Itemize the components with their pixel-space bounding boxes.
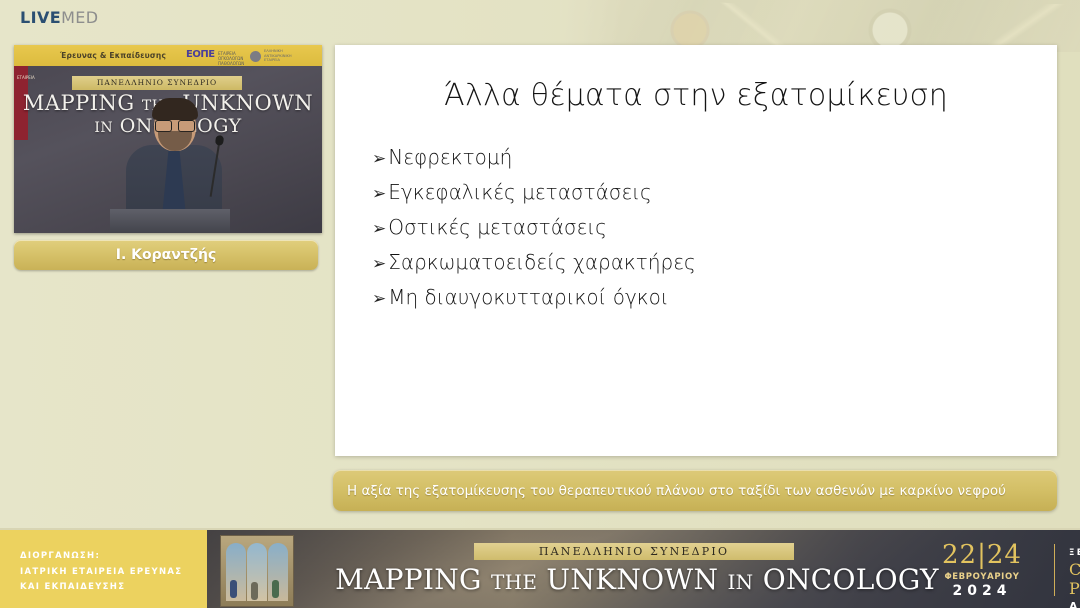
conference-footer: ΔΙΟΡΓΑΝΩΣΗ: ΙΑΤΡΙΚΗ ΕΤΑΙΡΕΙΑ ΕΡΕΥΝΑΣ ΚΑΙ…	[0, 528, 1080, 608]
organizer-line-2: ΚΑΙ ΕΚΠΑΙΔΕΥΣΗΣ	[20, 580, 182, 596]
bullet-text: Εγκεφαλικές μεταστάσεις	[388, 180, 652, 204]
title-in: IN	[727, 570, 753, 594]
bullet-arrow-icon: ➢	[372, 291, 386, 308]
date-end: 24	[987, 540, 1022, 570]
title-the: THE	[491, 570, 537, 594]
session-title-text: Η αξία της εξατομίκευσης του θεραπευτικο…	[347, 483, 1006, 499]
livemed-logo[interactable]: LIVEMED	[20, 8, 99, 27]
footer-triptych-artwork	[220, 535, 294, 607]
speaker-name-text: Ι. Κοραντζής	[116, 247, 217, 263]
session-title-bar: Η αξία της εξατομίκευσης του θεραπευτικο…	[333, 470, 1057, 511]
title-oncology: ONCOLOGY	[763, 563, 939, 596]
organizer-label: ΔΙΟΡΓΑΝΩΣΗ:	[20, 549, 182, 565]
backdrop-subtitle-text: ΠΑΝΕΛΛΗΝΙΟ ΣΥΝΕΔΡΙΟ	[72, 76, 242, 90]
footer-organizer-panel: ΔΙΟΡΓΑΝΩΣΗ: ΙΑΤΡΙΚΗ ΕΤΑΙΡΕΙΑ ΕΡΕΥΝΑΣ ΚΑΙ…	[0, 530, 207, 608]
list-item: ➢ Μη διαυγοκυτταρικοί όγκοι	[372, 285, 1012, 309]
bullet-text: Οστικές μεταστάσεις	[388, 215, 607, 239]
footer-venue-block: ΞΕΝΟΔΟΧΕΙΟ Crowne Plaza ΑΘΗΝΑ	[1069, 548, 1080, 608]
list-item: ➢ Εγκεφαλικές μεταστάσεις	[372, 180, 1012, 204]
hellenic-cancer-society-logo: ΕΛΛΗΝΙΚΗΑΝΤΙΚΑΡΚΙΝΙΚΗΕΤΑΙΡΕΙΑ	[250, 49, 292, 63]
date-start: 22	[942, 540, 977, 570]
title-mapping: MAPPING	[335, 563, 482, 596]
bullet-arrow-icon: ➢	[372, 151, 386, 168]
bullet-arrow-icon: ➢	[372, 221, 386, 238]
list-item: ➢ Οστικές μεταστάσεις	[372, 215, 1012, 239]
footer-organizer-text: ΔΙΟΡΓΑΝΩΣΗ: ΙΑΤΡΙΚΗ ΕΤΑΙΡΕΙΑ ΕΡΕΥΝΑΣ ΚΑΙ…	[20, 549, 182, 596]
podium	[110, 209, 230, 233]
venue-name: Crowne Plaza	[1069, 560, 1080, 598]
venue-city: ΑΘΗΝΑ	[1069, 600, 1080, 608]
date-range: 22|24	[917, 542, 1047, 568]
video-top-banner: Έρευνας & Εκπαίδευσης ΕΟΠΕ ΕΤΑΙΡΕΙΑΟΓΚΟΛ…	[14, 45, 322, 66]
footer-date-block: 22|24 ΦΕΒΡΟΥΑΡΙΟΥ 2024	[917, 542, 1047, 599]
speaker-glasses	[155, 120, 195, 130]
venue-label: ΞΕΝΟΔΟΧΕΙΟ	[1069, 548, 1080, 558]
bullet-text: Σαρκωματοειδείς χαρακτήρες	[388, 250, 696, 274]
speaker-name-banner: Ι. Κοραντζής	[14, 240, 318, 270]
organizer-line-1: ΙΑΤΡΙΚΗ ΕΤΑΙΡΕΙΑ ΕΡΕΥΝΑΣ	[20, 565, 182, 581]
footer-divider	[1054, 544, 1055, 596]
date-month: ΦΕΒΡΟΥΑΡΙΟΥ	[917, 572, 1047, 582]
date-separator: |	[977, 540, 987, 570]
presentation-slide[interactable]: Άλλα θέματα στην εξατομίκευση ➢ Νεφρεκτο…	[335, 45, 1057, 456]
footer-artwork-panel: ΠΑΝΕΛΛΗΝΙΟ ΣΥΝΕΔΡΙΟ MAPPING THE UNKNOWN …	[207, 530, 1080, 608]
artwork-figure	[272, 580, 279, 598]
date-year: 2024	[917, 583, 1047, 599]
banner-organizer-text: Έρευνας & Εκπαίδευσης	[60, 51, 166, 60]
eope-logo-subtext: ΕΤΑΙΡΕΙΑΟΓΚΟΛΟΓΩΝΠΑΘΟΛΟΓΩΝ	[218, 51, 244, 66]
logo-med-text: MED	[61, 8, 98, 27]
app-background: LIVEMED ΕΤΑΙΡΕΙΑ ΠΑΝΕΛΛΗΝΙΟ ΣΥΝΕΔΡΙΟ MAP…	[0, 0, 1080, 608]
artwork-figure	[230, 580, 237, 598]
speaker-hair	[152, 98, 198, 120]
slide-bullet-list: ➢ Νεφρεκτομή ➢ Εγκεφαλικές μεταστάσεις ➢…	[372, 145, 1012, 320]
bullet-text: Μη διαυγοκυτταρικοί όγκοι	[388, 285, 668, 309]
society-emblem-icon	[250, 51, 261, 62]
eope-logo: ΕΟΠΕ	[186, 49, 215, 60]
backdrop-subtitle-band: ΠΑΝΕΛΛΗΝΙΟ ΣΥΝΕΔΡΙΟ	[72, 76, 242, 90]
speaker-video-player[interactable]: ΕΤΑΙΡΕΙΑ ΠΑΝΕΛΛΗΝΙΟ ΣΥΝΕΔΡΙΟ MAPPING THE…	[14, 45, 322, 233]
list-item: ➢ Νεφρεκτομή	[372, 145, 1012, 169]
bullet-text: Νεφρεκτομή	[388, 145, 512, 169]
title-unknown: UNKNOWN	[546, 563, 718, 596]
artwork-figure	[251, 582, 258, 600]
bullet-arrow-icon: ➢	[372, 186, 386, 203]
society-logo-text: ΕΛΛΗΝΙΚΗΑΝΤΙΚΑΡΚΙΝΙΚΗΕΤΑΙΡΕΙΑ	[264, 49, 292, 63]
backdrop-side-text: ΕΤΑΙΡΕΙΑ	[17, 74, 28, 81]
footer-subtitle-text: ΠΑΝΕΛΛΗΝΙΟ ΣΥΝΕΔΡΙΟ	[539, 545, 729, 558]
logo-live-text: LIVE	[20, 8, 61, 27]
footer-conference-title: MAPPING THE UNKNOWN IN ONCOLOGY	[327, 563, 947, 596]
bullet-arrow-icon: ➢	[372, 256, 386, 273]
list-item: ➢ Σαρκωματοειδείς χαρακτήρες	[372, 250, 1012, 274]
slide-title: Άλλα θέματα στην εξατομίκευση	[335, 78, 1057, 113]
footer-subtitle-band: ΠΑΝΕΛΛΗΝΙΟ ΣΥΝΕΔΡΙΟ	[474, 543, 794, 560]
